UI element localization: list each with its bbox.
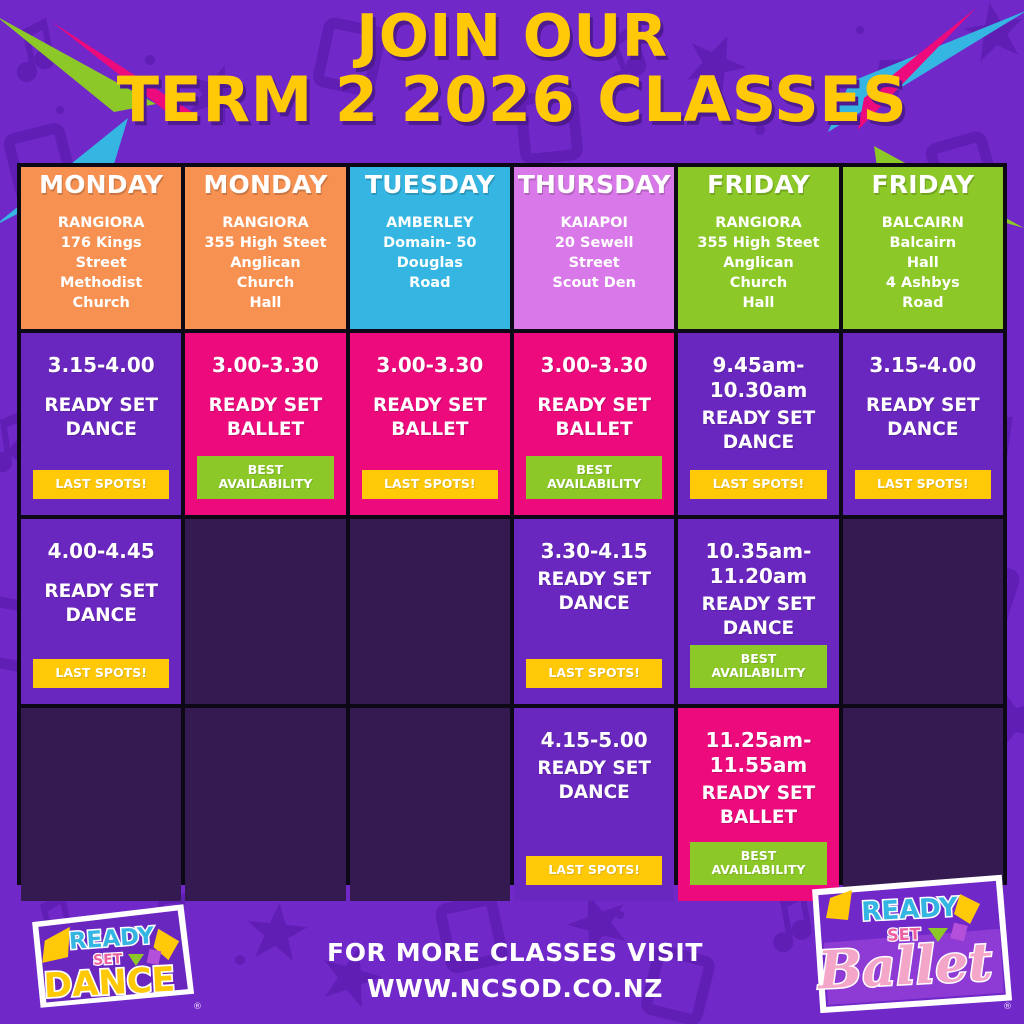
class-timetable: MONDAYRANGIORA 176 Kings Street Methodis… — [17, 163, 1007, 885]
class-time: 3.15-4.00 — [869, 353, 976, 378]
timetable-header-cell: FRIDAYBALCAIRN Balcairn Hall 4 Ashbys Ro… — [843, 167, 1003, 329]
header-venue-label: RANGIORA 355 High Steet Anglican Church … — [204, 213, 326, 313]
class-time: 3.00-3.30 — [376, 353, 483, 378]
title-line-2: TERM 2 2026 CLASSES — [0, 68, 1024, 131]
availability-badge[interactable]: LAST SPOTS! — [33, 470, 169, 499]
timetable-empty-cell — [843, 519, 1003, 704]
timetable-header-cell: FRIDAYRANGIORA 355 High Steet Anglican C… — [678, 167, 838, 329]
poster-canvas: JOIN OUR TERM 2 2026 CLASSES MONDAYRANGI… — [0, 0, 1024, 1024]
class-cell[interactable]: 9.45am- 10.30amREADY SET DANCELAST SPOTS… — [678, 333, 838, 515]
class-name: READY SET DANCE — [702, 407, 816, 455]
header-venue-label: KAIAPOI 20 Sewell Street Scout Den — [552, 213, 636, 293]
class-name: READY SET DANCE — [537, 757, 651, 805]
timetable-header-cell: MONDAYRANGIORA 355 High Steet Anglican C… — [185, 167, 345, 329]
class-time: 10.35am- 11.20am — [706, 539, 812, 589]
poster-title: JOIN OUR TERM 2 2026 CLASSES — [0, 6, 1024, 131]
timetable-empty-cell — [350, 708, 510, 901]
header-day-label: FRIDAY — [872, 169, 975, 200]
class-name: READY SET BALLET — [702, 782, 816, 830]
title-line-1: JOIN OUR — [0, 6, 1024, 66]
timetable-empty-cell — [185, 519, 345, 704]
availability-badge[interactable]: LAST SPOTS! — [690, 470, 826, 499]
header-day-label: THURSDAY — [518, 169, 671, 200]
svg-text:READY: READY — [861, 892, 960, 927]
class-time: 11.25am- 11.55am — [706, 728, 812, 778]
class-cell[interactable]: 3.00-3.30READY SET BALLETLAST SPOTS! — [350, 333, 510, 515]
ready-set-ballet-logo: READY SET Ballet ® — [800, 868, 1016, 1018]
header-venue-label: AMBERLEY Domain- 50 Douglas Road — [383, 213, 476, 293]
cta-line-1: FOR MORE CLASSES VISIT — [300, 935, 730, 971]
class-name: READY SET DANCE — [866, 394, 980, 442]
class-name: READY SET DANCE — [44, 580, 158, 628]
class-cell[interactable]: 4.15-5.00READY SET DANCELAST SPOTS! — [514, 708, 674, 901]
availability-badge[interactable]: BEST AVAILABILITY — [690, 645, 826, 689]
class-time: 3.30-4.15 — [541, 539, 648, 564]
class-name: READY SET DANCE — [537, 568, 651, 616]
header-day-label: MONDAY — [203, 169, 327, 200]
header-day-label: MONDAY — [39, 169, 163, 200]
timetable-header-cell: MONDAYRANGIORA 176 Kings Street Methodis… — [21, 167, 181, 329]
class-time: 9.45am- 10.30am — [710, 353, 808, 403]
registered-mark-dance: ® — [193, 1002, 202, 1012]
class-cell[interactable]: 3.00-3.30READY SET BALLETBEST AVAILABILI… — [514, 333, 674, 515]
header-day-label: TUESDAY — [365, 169, 495, 200]
timetable-empty-cell — [185, 708, 345, 901]
timetable-empty-cell — [350, 519, 510, 704]
class-name: READY SET BALLET — [209, 394, 323, 442]
registered-mark-ballet: ® — [1003, 1002, 1012, 1012]
availability-badge[interactable]: LAST SPOTS! — [33, 659, 169, 688]
cta-line-2: WWW.NCSOD.CO.NZ — [300, 971, 730, 1007]
class-cell[interactable]: 3.15-4.00READY SET DANCELAST SPOTS! — [843, 333, 1003, 515]
availability-badge[interactable]: LAST SPOTS! — [855, 470, 991, 499]
class-name: READY SET BALLET — [373, 394, 487, 442]
footer-cta: FOR MORE CLASSES VISIT WWW.NCSOD.CO.NZ — [300, 935, 730, 1006]
class-time: 3.15-4.00 — [48, 353, 155, 378]
ready-set-dance-logo: READY SET DANCE ® — [28, 902, 196, 1010]
header-day-label: FRIDAY — [707, 169, 810, 200]
class-cell[interactable]: 3.15-4.00READY SET DANCELAST SPOTS! — [21, 333, 181, 515]
class-cell[interactable]: 3.00-3.30READY SET BALLETBEST AVAILABILI… — [185, 333, 345, 515]
timetable-header-cell: THURSDAYKAIAPOI 20 Sewell Street Scout D… — [514, 167, 674, 329]
timetable-empty-cell — [21, 708, 181, 901]
availability-badge[interactable]: LAST SPOTS! — [526, 659, 662, 688]
availability-badge[interactable]: BEST AVAILABILITY — [526, 456, 662, 500]
svg-text:DANCE: DANCE — [43, 960, 176, 1007]
timetable-header-cell: TUESDAYAMBERLEY Domain- 50 Douglas Road — [350, 167, 510, 329]
class-time: 4.00-4.45 — [48, 539, 155, 564]
availability-badge[interactable]: LAST SPOTS! — [526, 856, 662, 885]
header-venue-label: RANGIORA 355 High Steet Anglican Church … — [697, 213, 819, 313]
header-venue-label: BALCAIRN Balcairn Hall 4 Ashbys Road — [882, 213, 964, 313]
availability-badge[interactable]: LAST SPOTS! — [362, 470, 498, 499]
class-time: 3.00-3.30 — [212, 353, 319, 378]
class-time: 4.15-5.00 — [541, 728, 648, 753]
class-name: READY SET DANCE — [702, 593, 816, 641]
class-time: 3.00-3.30 — [541, 353, 648, 378]
class-cell[interactable]: 3.30-4.15READY SET DANCELAST SPOTS! — [514, 519, 674, 704]
class-cell[interactable]: 4.00-4.45READY SET DANCELAST SPOTS! — [21, 519, 181, 704]
class-name: READY SET BALLET — [537, 394, 651, 442]
availability-badge[interactable]: BEST AVAILABILITY — [197, 456, 333, 500]
header-venue-label: RANGIORA 176 Kings Street Methodist Chur… — [58, 213, 145, 313]
class-cell[interactable]: 10.35am- 11.20amREADY SET DANCEBEST AVAI… — [678, 519, 838, 704]
class-name: READY SET DANCE — [44, 394, 158, 442]
svg-text:Ballet: Ballet — [814, 932, 993, 1002]
